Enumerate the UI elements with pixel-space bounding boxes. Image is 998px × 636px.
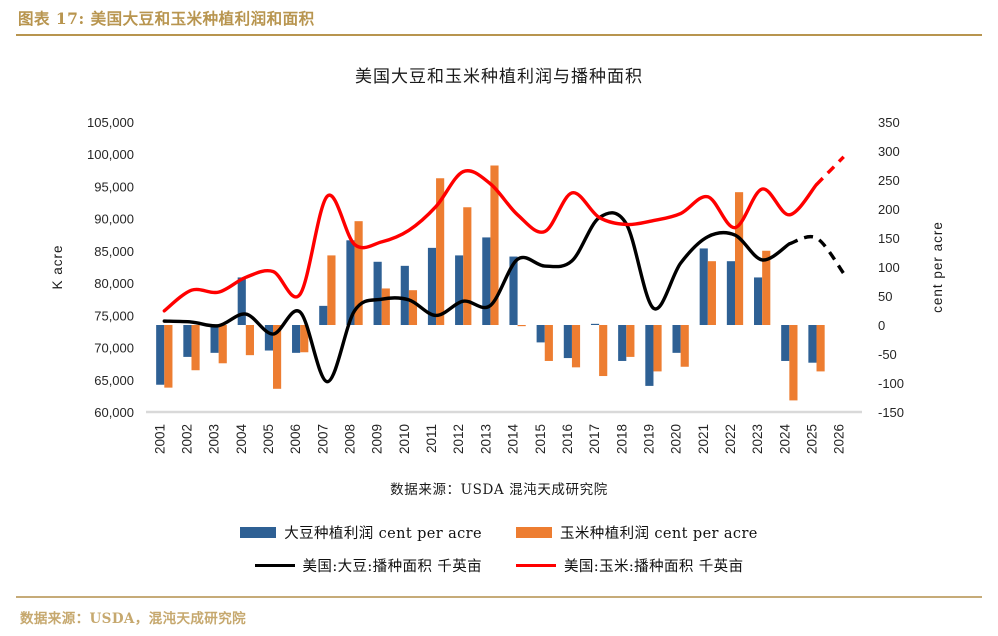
line-series-soybean-acreage <box>164 213 789 382</box>
y2-axis-tick-label: -100 <box>878 376 904 391</box>
bar-series-corn <box>164 166 824 401</box>
x-axis-tick-label: 2010 <box>397 424 412 454</box>
chart-legend: 大豆种植利润 cent per acre 玉米种植利润 cent per acr… <box>0 522 998 588</box>
bar <box>246 325 254 355</box>
bar <box>817 325 825 371</box>
x-axis-tick-label: 2016 <box>560 424 575 454</box>
bar <box>645 325 653 386</box>
legend-row-bars: 大豆种植利润 cent per acre 玉米种植利润 cent per acr… <box>0 522 998 543</box>
legend-item-corn-profit[interactable]: 玉米种植利润 cent per acre <box>516 522 758 543</box>
legend-swatch-bar-blue <box>240 527 276 538</box>
x-axis-tick-label: 2006 <box>288 424 303 454</box>
y2-axis-tick-label: 350 <box>878 115 900 130</box>
bar <box>327 255 335 325</box>
y-axis-tick-label: 75,000 <box>94 308 134 323</box>
legend-label-soybean-acreage: 美国:大豆:播种面积 千英亩 <box>303 555 482 576</box>
chart-container: 美国大豆和玉米种植利润与播种面积 60,00065,00070,00075,00… <box>0 40 998 595</box>
x-axis-tick-label: 2021 <box>696 424 711 454</box>
bar <box>219 325 227 363</box>
chart-plot-area: 60,00065,00070,00075,00080,00085,00090,0… <box>0 40 998 500</box>
x-axis-tick-label: 2009 <box>370 424 385 454</box>
bar <box>238 277 246 325</box>
figure-header: 图表 17: 美国大豆和玉米种植利润和面积 <box>0 0 998 36</box>
legend-swatch-bar-orange <box>516 527 552 538</box>
y-axis-tick-label: 80,000 <box>94 276 134 291</box>
y2-axis-tick-label: -150 <box>878 405 904 420</box>
x-axis-tick-label: 2014 <box>506 424 521 455</box>
bar <box>191 325 199 370</box>
bar <box>618 325 626 361</box>
legend-item-corn-acreage[interactable]: 美国:玉米:播种面积 千英亩 <box>516 555 743 576</box>
bar <box>599 325 607 376</box>
x-axis-tick-label: 2023 <box>750 424 765 454</box>
legend-label-corn-profit: 玉米种植利润 cent per acre <box>560 522 758 543</box>
x-axis-tick-label: 2024 <box>777 424 792 455</box>
bar <box>482 237 490 325</box>
y-axis-title: K acre <box>50 244 65 289</box>
x-axis-tick-label: 2020 <box>669 424 684 454</box>
x-axis-tick-label: 2007 <box>315 424 330 454</box>
y2-axis-tick-label: 150 <box>878 231 900 246</box>
bar <box>564 325 572 358</box>
x-axis-tick-label: 2008 <box>343 424 358 454</box>
page-root: 图表 17: 美国大豆和玉米种植利润和面积 美国大豆和玉米种植利润与播种面积 6… <box>0 0 998 636</box>
legend-row-lines: 美国:大豆:播种面积 千英亩 美国:玉米:播种面积 千英亩 <box>0 555 998 576</box>
bar <box>156 325 164 385</box>
bar <box>808 325 816 363</box>
legend-swatch-line-red <box>516 564 556 568</box>
header-divider <box>16 34 982 36</box>
bar <box>591 324 599 325</box>
x-axis-tick-label: 2003 <box>207 424 222 454</box>
bar <box>727 261 735 325</box>
x-axis-tick-label: 2011 <box>424 424 439 453</box>
x-axis-tick-label: 2005 <box>261 424 276 454</box>
bar <box>762 251 770 325</box>
bar <box>292 325 300 353</box>
y2-axis-tick-label: 200 <box>878 202 900 217</box>
y-axis-tick-label: 60,000 <box>94 405 134 420</box>
bar <box>401 266 409 325</box>
x-axis-tick-label: 2022 <box>723 424 738 454</box>
bar <box>789 325 797 400</box>
chart-source-note: 数据来源：USDA 混沌天成研究院 <box>0 478 998 498</box>
x-axis-tick-label: 2017 <box>587 424 602 454</box>
bar <box>518 325 526 326</box>
bar <box>681 325 689 367</box>
legend-label-corn-acreage: 美国:玉米:播种面积 千英亩 <box>564 555 743 576</box>
x-axis-tick-label: 2018 <box>614 424 629 454</box>
legend-swatch-line-black <box>255 564 295 568</box>
bar <box>537 325 545 342</box>
y2-axis-tick-label: 100 <box>878 260 900 275</box>
y2-axis-tick-label: 50 <box>878 289 892 304</box>
x-axis-tick-label: 2015 <box>533 424 548 454</box>
bar <box>164 325 172 388</box>
line-forecast-corn-acreage <box>817 157 844 185</box>
x-axis-tick-label: 2012 <box>451 424 466 454</box>
y-axis-tick-label: 90,000 <box>94 212 134 227</box>
y2-axis-tick-label: 250 <box>878 173 900 188</box>
x-axis-tick-label: 2004 <box>234 424 249 455</box>
bar <box>754 277 762 325</box>
y2-axis-tick-label: 0 <box>878 318 885 333</box>
bar <box>572 325 580 367</box>
bar <box>672 325 680 353</box>
legend-item-soybean-profit[interactable]: 大豆种植利润 cent per acre <box>240 522 482 543</box>
legend-item-soybean-acreage[interactable]: 美国:大豆:播种面积 千英亩 <box>255 555 482 576</box>
y-axis-tick-label: 70,000 <box>94 341 134 356</box>
bar <box>463 207 471 325</box>
y2-axis-tick-label: -50 <box>878 347 897 362</box>
x-axis-tick-label: 2002 <box>179 424 194 454</box>
x-axis-tick-label: 2019 <box>641 424 656 454</box>
bar <box>409 290 417 325</box>
y2-axis-title: cent per acre <box>930 221 945 313</box>
bar <box>626 325 634 357</box>
legend-label-soybean-profit: 大豆种植利润 cent per acre <box>284 522 482 543</box>
figure-title: 图表 17: 美国大豆和玉米种植利润和面积 <box>18 7 315 29</box>
bar <box>653 325 661 371</box>
y-axis-tick-label: 65,000 <box>94 373 134 388</box>
x-axis-tick-label: 2026 <box>832 424 847 454</box>
y-axis-tick-label: 105,000 <box>87 115 134 130</box>
bar <box>211 325 219 353</box>
bar <box>735 192 743 325</box>
y-axis-tick-label: 100,000 <box>87 147 134 162</box>
bar <box>319 306 327 325</box>
bar <box>183 325 191 357</box>
bar <box>374 262 382 325</box>
bar <box>382 288 390 325</box>
x-axis-tick-label: 2025 <box>805 424 820 454</box>
x-axis-tick-label: 2013 <box>478 424 493 454</box>
bar <box>455 255 463 325</box>
x-axis-tick-label: 2001 <box>152 424 167 454</box>
bar <box>781 325 789 361</box>
bar-series-soybean <box>156 237 816 385</box>
y-axis-tick-label: 85,000 <box>94 244 134 259</box>
y2-axis-tick-label: 300 <box>878 144 900 159</box>
footer-source: 数据来源：USDA，混沌天成研究院 <box>20 607 246 627</box>
footer-divider <box>16 596 982 598</box>
bar <box>545 325 553 361</box>
bar <box>700 248 708 325</box>
line-forecast-soybean-acreage <box>789 237 843 274</box>
y-axis-tick-label: 95,000 <box>94 179 134 194</box>
bar <box>708 261 716 325</box>
